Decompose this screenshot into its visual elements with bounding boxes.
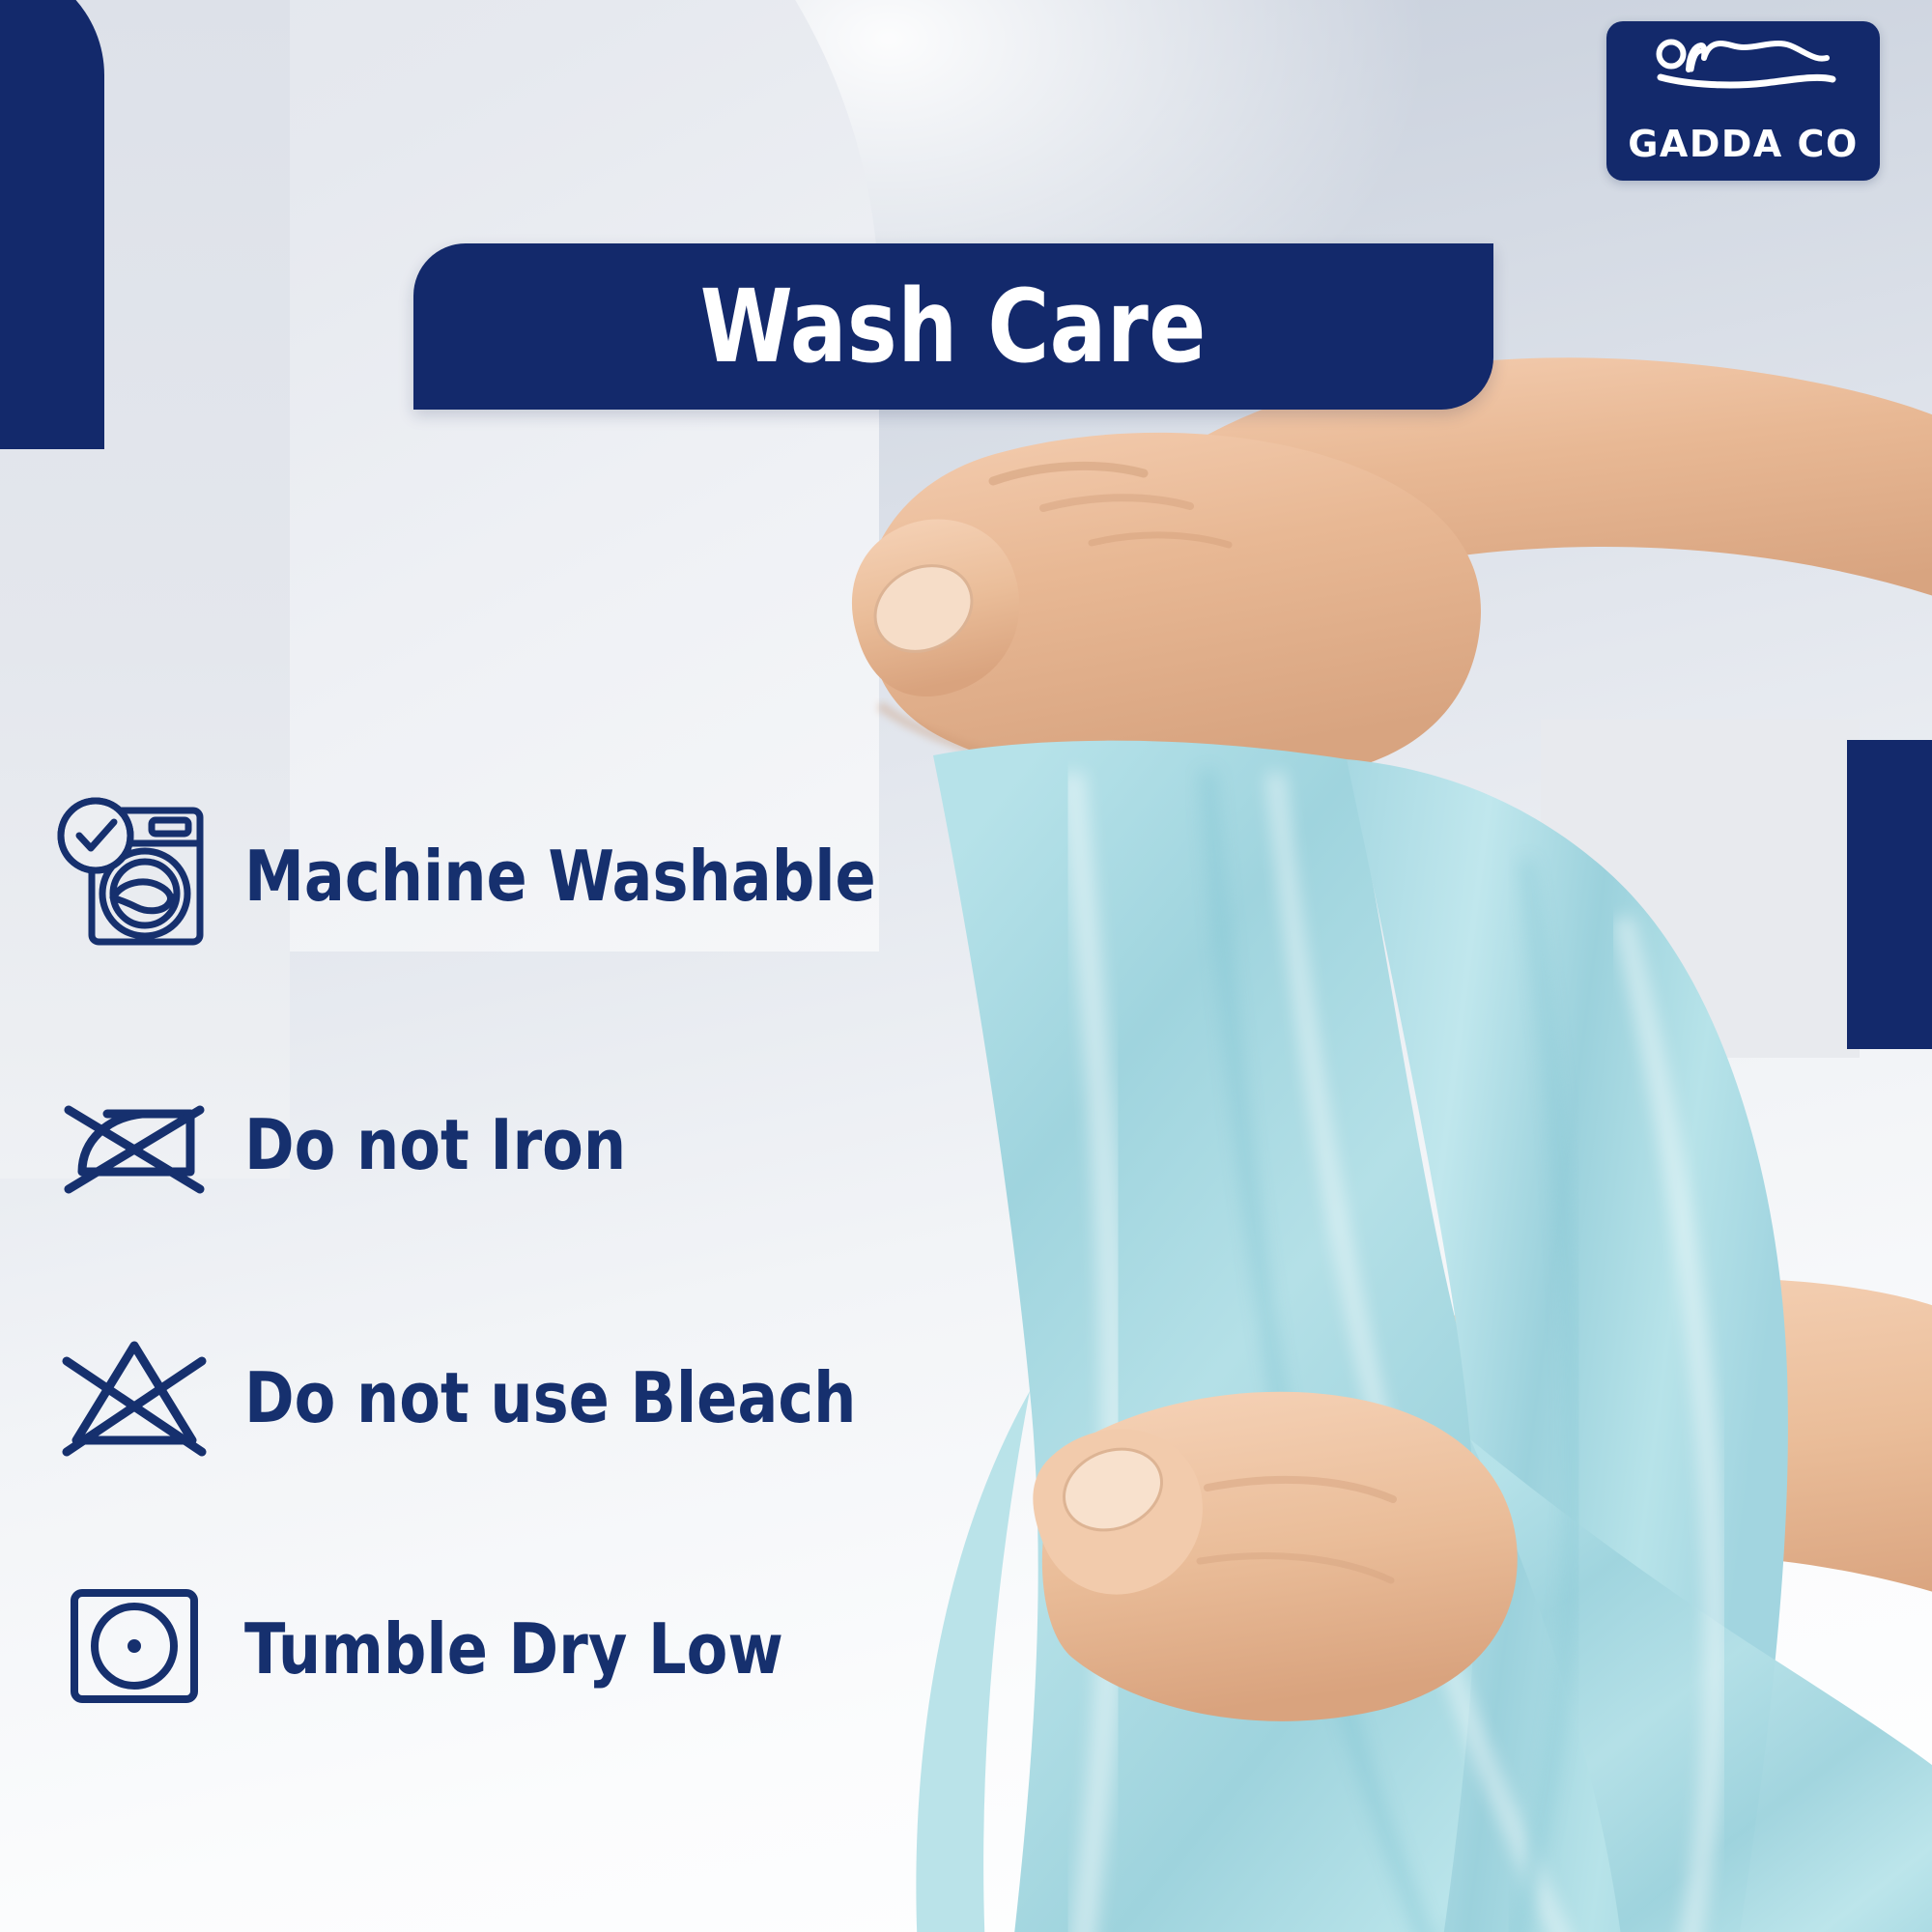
- product-photo-hands-towel: [753, 319, 1932, 1932]
- sleeping-person-on-mattress-icon: [1643, 35, 1844, 95]
- care-label-machine-washable: Machine Washable: [244, 841, 876, 911]
- no-bleach-triangle-icon: [44, 1309, 223, 1488]
- brand-logo: GADDA CO: [1606, 21, 1880, 181]
- tumble-dry-low-icon: [44, 1560, 223, 1739]
- care-label-do-not-iron: Do not Iron: [244, 1110, 626, 1179]
- care-row-machine-washable: Machine Washable: [44, 784, 902, 968]
- brand-name: GADDA CO: [1606, 126, 1880, 162]
- page-title: Wash Care: [700, 276, 1207, 377]
- no-iron-icon: [44, 1056, 223, 1235]
- page-title-banner: Wash Care: [413, 243, 1493, 410]
- background-arch-navy: [0, 0, 104, 449]
- care-row-tumble-dry-low: Tumble Dry Low: [44, 1557, 806, 1741]
- care-label-tumble-dry-low: Tumble Dry Low: [244, 1614, 783, 1684]
- care-label-do-not-use-bleach: Do not use Bleach: [244, 1363, 856, 1433]
- care-row-do-not-iron: Do not Iron: [44, 1053, 642, 1236]
- care-row-do-not-use-bleach: Do not use Bleach: [44, 1306, 882, 1490]
- washing-machine-check-icon: [44, 787, 223, 966]
- wash-care-infographic: GADDA CO Wash Care: [0, 0, 1932, 1932]
